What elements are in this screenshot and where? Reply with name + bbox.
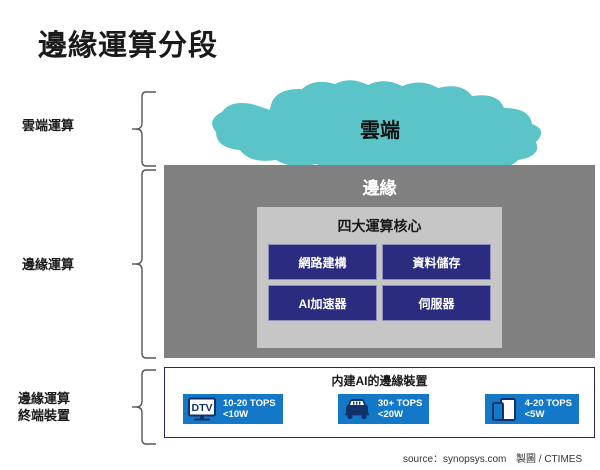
device-chip-dtv-tops: 10-20 TOPS [223, 398, 276, 409]
device-chip-dtv[interactable]: DTV 10-20 TOPS <10W [183, 394, 283, 424]
device-chip-automotive-power: <20W [378, 409, 422, 420]
tier-label-cloud: 雲端運算 [22, 117, 74, 134]
tier-label-edge: 邊緣運算 [22, 256, 74, 273]
tier-label-device-line1: 邊緣運算 [18, 390, 70, 407]
brace-cloud-icon [132, 90, 158, 168]
device-chip-row: DTV 10-20 TOPS <10W [183, 394, 579, 424]
device-chip-mobile-tops: 4-20 TOPS [525, 398, 572, 409]
device-panel-title: 内建AI的邊緣裝置 [165, 372, 594, 389]
car-icon [342, 396, 372, 422]
device-chip-mobile[interactable]: 4-20 TOPS <5W [485, 394, 579, 424]
tier-label-device-line2: 終端裝置 [18, 407, 70, 424]
device-panel: 内建AI的邊緣裝置 DTV 10-20 TOPS <10W [164, 367, 595, 438]
device-chip-automotive-tops: 30+ TOPS [378, 398, 422, 409]
edge-title: 邊緣 [164, 174, 595, 199]
core-tile-server[interactable]: 伺服器 [382, 285, 491, 321]
device-chip-automotive-text: 30+ TOPS <20W [378, 398, 422, 420]
mobile-tablet-icon [489, 396, 519, 422]
device-chip-mobile-power: <5W [525, 409, 572, 420]
core-title: 四大運算核心 [257, 216, 502, 236]
edge-box: 邊緣 四大運算核心 網路建構 資料儲存 AI加速器 伺服器 [164, 165, 595, 358]
svg-text:DTV: DTV [192, 402, 213, 414]
core-box: 四大運算核心 網路建構 資料儲存 AI加速器 伺服器 [257, 207, 502, 348]
core-tile-storage[interactable]: 資料儲存 [382, 244, 491, 280]
device-chip-mobile-text: 4-20 TOPS <5W [525, 398, 572, 420]
brace-device-icon [132, 368, 158, 446]
footer-source: source：synopsys.com [403, 450, 506, 465]
device-chip-dtv-power: <10W [223, 409, 276, 420]
tv-dtv-icon: DTV [187, 396, 217, 422]
device-chip-automotive[interactable]: 30+ TOPS <20W [338, 394, 429, 424]
tier-label-device: 邊緣運算 終端裝置 [18, 390, 70, 424]
cloud-shape: 雲端 [210, 80, 550, 172]
brace-edge-icon [132, 168, 158, 360]
edge-computing-tiers-diagram: 邊緣運算分段 雲端運算 邊緣運算 邊緣運算 終端裝置 雲端 邊緣 [0, 0, 600, 470]
core-tile-ai-accelerator[interactable]: AI加速器 [268, 285, 377, 321]
footer-credit: 製圖 / CTIMES [516, 450, 582, 465]
core-tile-grid: 網路建構 資料儲存 AI加速器 伺服器 [268, 244, 491, 321]
cloud-label: 雲端 [210, 114, 550, 143]
page-title: 邊緣運算分段 [38, 22, 218, 64]
core-tile-network[interactable]: 網路建構 [268, 244, 377, 280]
device-chip-dtv-text: 10-20 TOPS <10W [223, 398, 276, 420]
